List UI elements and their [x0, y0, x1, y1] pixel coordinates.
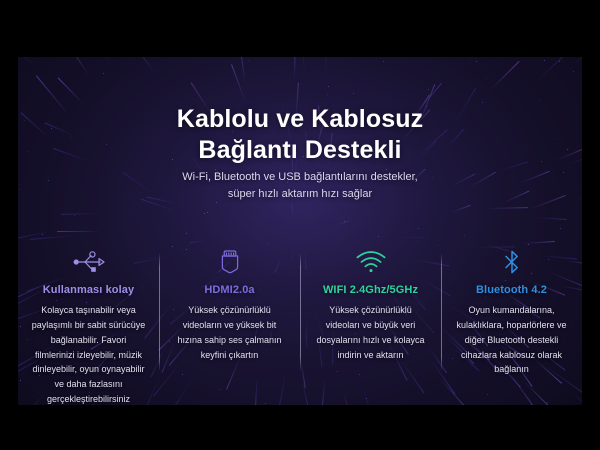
- feature-title: WIFI 2.4Ghz/5GHz: [312, 284, 429, 296]
- feature-item-hdmi: HDMI2.0a Yüksek çözünürlüklü videoların …: [159, 247, 300, 362]
- feature-item-usb: Kullanması kolay Kolayca taşınabilir vey…: [18, 247, 159, 405]
- subheadline-line-1: Wi-Fi, Bluetooth ve USB bağlantılarını d…: [182, 171, 417, 183]
- feature-description: Kolayca taşınabilir veya paylaşımlı bir …: [30, 303, 147, 405]
- headline-line-1: Kablolu ve Kablosuz: [177, 105, 423, 133]
- feature-title: Bluetooth 4.2: [453, 284, 570, 296]
- screenshot-stage: Kablolu ve Kablosuz Bağlantı Destekli Wi…: [0, 0, 600, 450]
- feature-description: Yüksek çözünürlüklü videoların ve yüksek…: [171, 303, 288, 362]
- hdmi-icon: [171, 247, 288, 277]
- promo-banner-panel: Kablolu ve Kablosuz Bağlantı Destekli Wi…: [18, 57, 582, 405]
- headline-line-2: Bağlantı Destekli: [18, 135, 582, 167]
- feature-description: Oyun kumandalarına, kulaklıklara, hoparl…: [453, 303, 570, 377]
- feature-description: Yüksek çözünürlüklü videoları ve büyük v…: [312, 303, 429, 362]
- feature-title: HDMI2.0a: [171, 284, 288, 296]
- bluetooth-icon: [453, 247, 570, 277]
- subheadline-line-2: süper hızlı aktarım hızı sağlar: [18, 186, 582, 203]
- wifi-icon: [312, 247, 429, 277]
- page-subtitle: Wi-Fi, Bluetooth ve USB bağlantılarını d…: [18, 169, 582, 203]
- feature-list: Kullanması kolay Kolayca taşınabilir vey…: [18, 247, 582, 405]
- feature-title: Kullanması kolay: [30, 284, 147, 296]
- usb-icon: [30, 247, 147, 277]
- page-title: Kablolu ve Kablosuz Bağlantı Destekli: [18, 104, 582, 167]
- feature-item-bluetooth: Bluetooth 4.2 Oyun kumandalarına, kulakl…: [441, 247, 582, 377]
- feature-item-wifi: WIFI 2.4Ghz/5GHz Yüksek çözünürlüklü vid…: [300, 247, 441, 362]
